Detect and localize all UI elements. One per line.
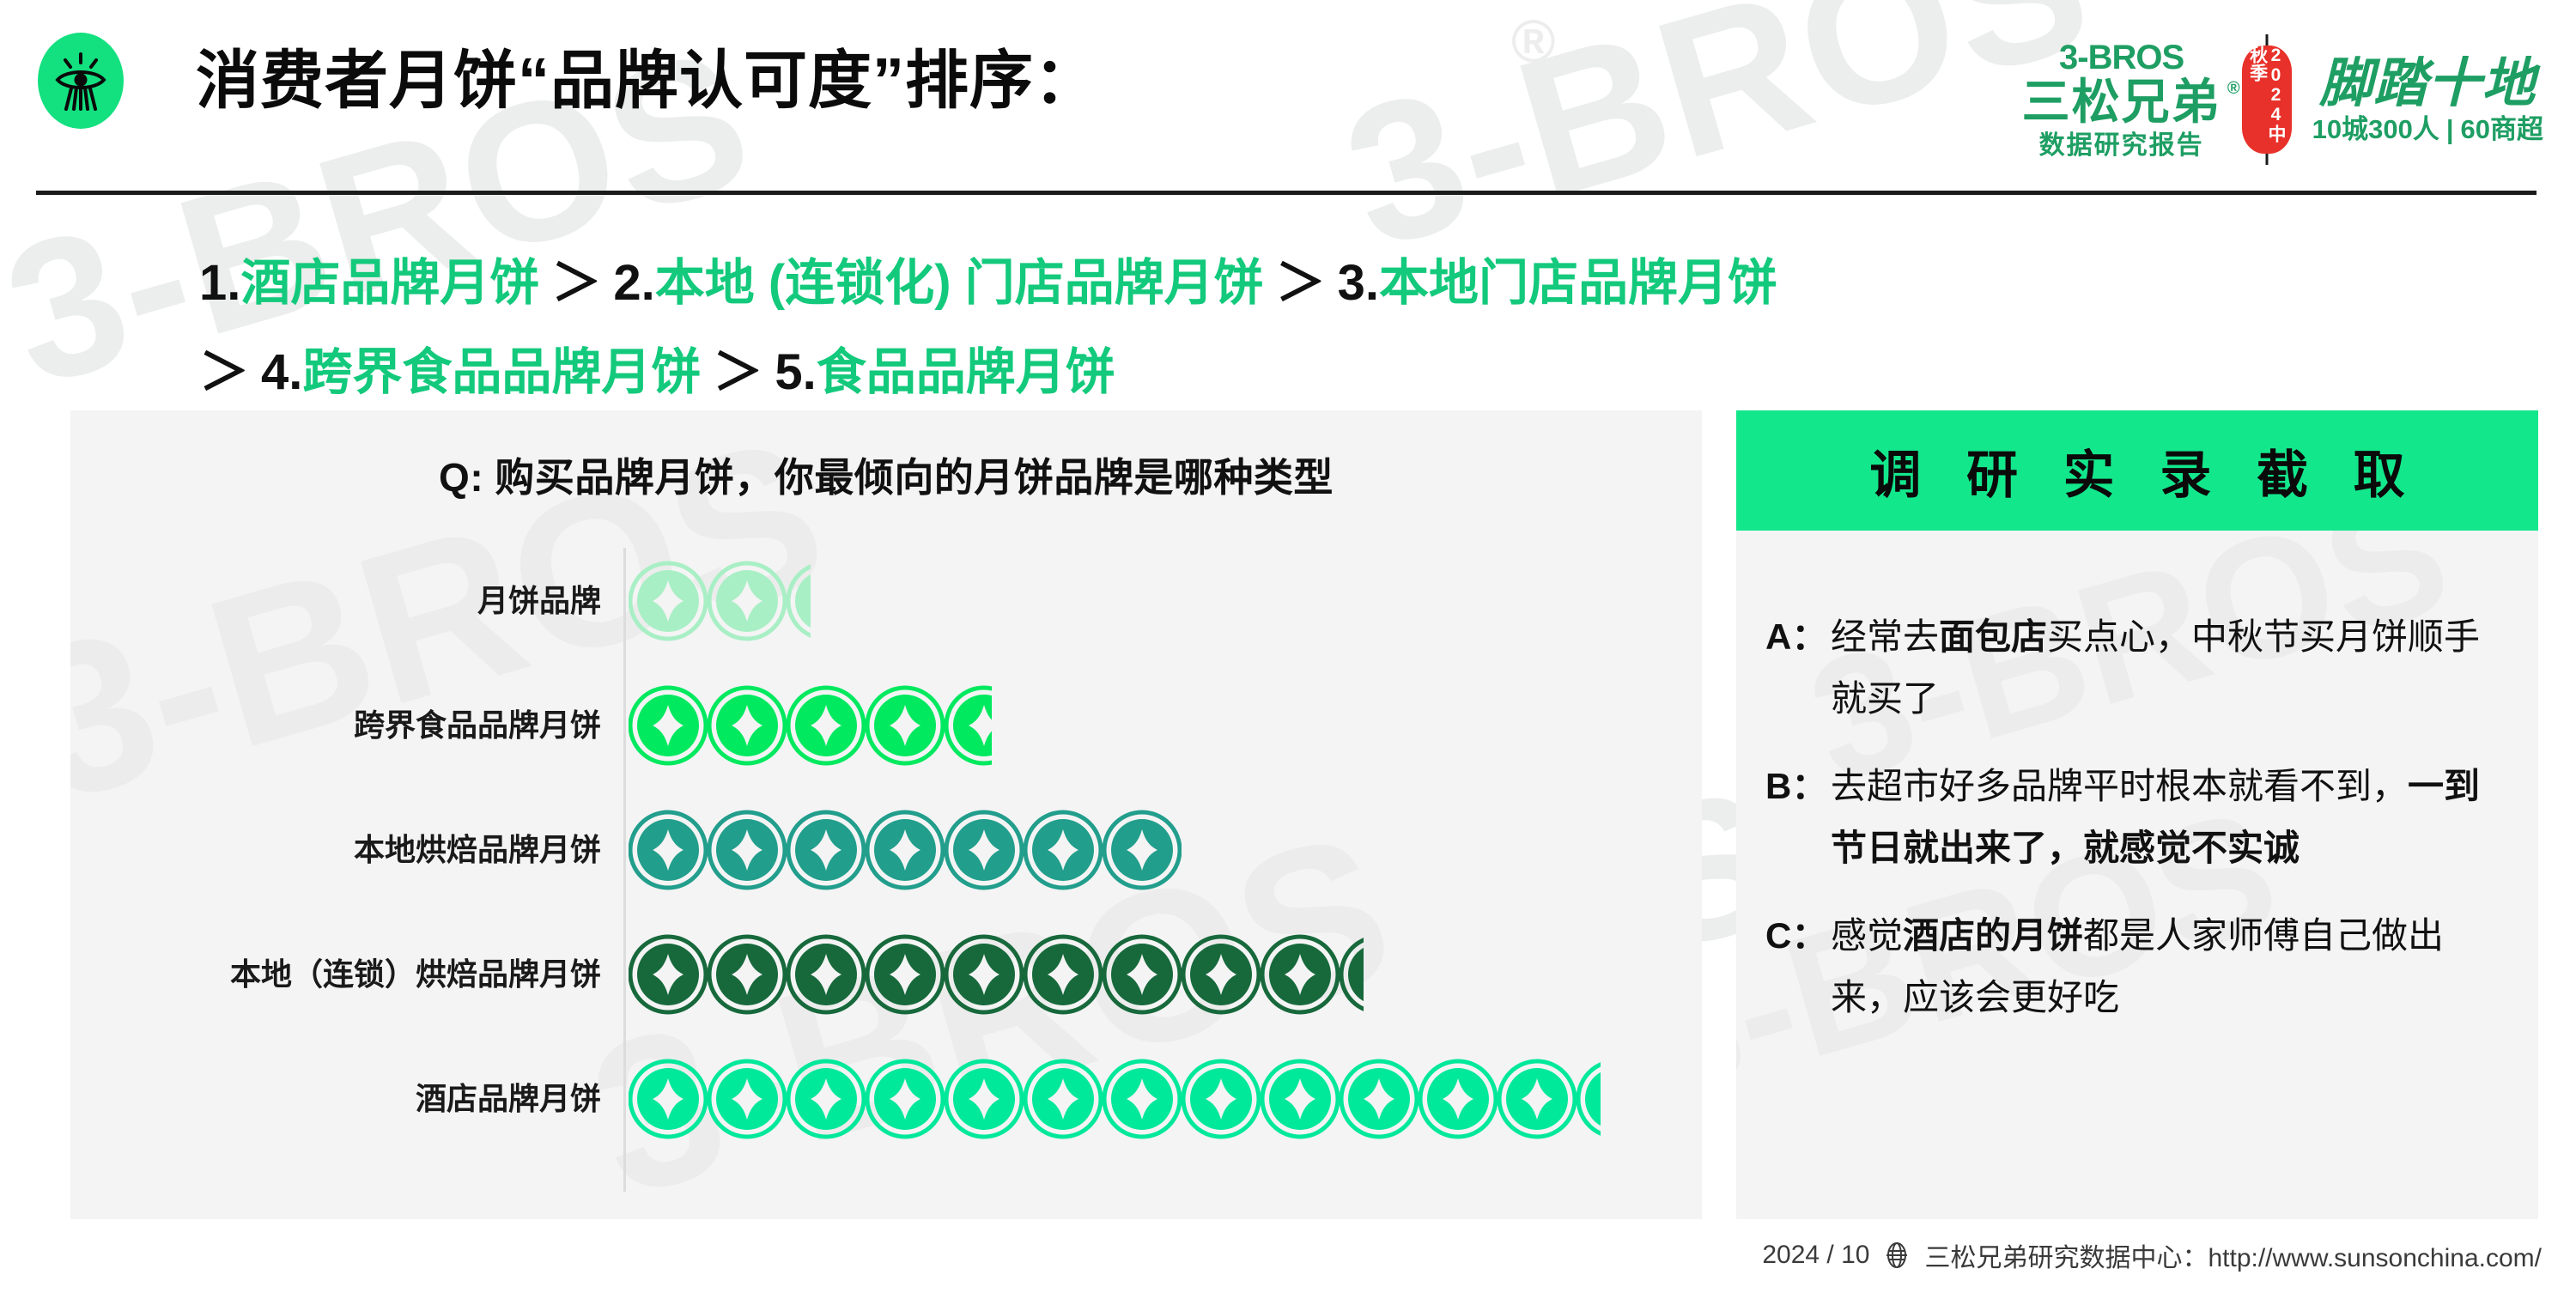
slide-page: 3-BROS 3-BROS 3-BROS ® ® 消费者月饼“品牌认可度”排序： bbox=[0, 0, 2576, 1293]
footer-date: 2024 / 10 bbox=[1762, 1241, 1869, 1270]
chart-row-label: 跨界食品品牌月饼 bbox=[70, 665, 601, 786]
rank-separator: ＞ bbox=[199, 344, 261, 400]
chart-panel: 3-BROS 3-BROS Q: 购买品牌月饼，你最倾向的月饼品牌是哪种类型 月… bbox=[70, 410, 1702, 1219]
pictogram-unit-icon bbox=[1024, 1039, 1103, 1159]
chart-row-bar bbox=[629, 665, 992, 786]
pictogram-unit-icon bbox=[866, 665, 945, 786]
pictogram-unit-icon bbox=[866, 1039, 945, 1159]
quote-text: 经常去面包店买点心，中秋节买月饼顺手就买了 bbox=[1831, 606, 2509, 730]
quote-fragment: 经常去 bbox=[1831, 616, 1939, 657]
quote-list: A：经常去面包店买点心，中秋节买月饼顺手就买了B：去超市好多品牌平时根本就看不到… bbox=[1736, 606, 2538, 1054]
rank-label: 酒店品牌月饼 bbox=[240, 255, 539, 311]
pictogram-unit-icon bbox=[787, 1039, 866, 1159]
pictogram-unit-icon bbox=[787, 914, 866, 1035]
pictogram-unit-icon bbox=[1024, 790, 1103, 910]
brand-lockup: 3-BROS 三松兄弟® 数据研究报告 2024中秋季 脚踏十地 10城300人… bbox=[2022, 22, 2543, 177]
pictogram-unit-icon bbox=[1103, 790, 1182, 910]
pictogram-unit-icon bbox=[945, 665, 992, 786]
pictogram-unit-icon bbox=[708, 1039, 787, 1159]
rank-label: 本地门店品牌月饼 bbox=[1379, 255, 1777, 311]
ranking-line: ＞4.跨界食品品牌月饼＞5.食品品牌月饼 bbox=[199, 328, 2449, 417]
quote-emphasis: 面包店 bbox=[1939, 616, 2047, 657]
rank-separator: ＞ bbox=[1264, 255, 1338, 311]
survey-excerpt-panel: 3-BROS 3-BROS 调 研 实 录 截 取 A：经常去面包店买点心，中秋… bbox=[1736, 410, 2538, 1219]
pictogram-unit-icon bbox=[1498, 1039, 1577, 1159]
chart-row-bar bbox=[629, 541, 811, 661]
brand-sunson: 3-BROS 三松兄弟® 数据研究报告 bbox=[2022, 40, 2221, 159]
pictogram-unit-icon bbox=[629, 1039, 708, 1159]
pictogram-unit-icon bbox=[945, 1039, 1024, 1159]
pictogram-unit-icon bbox=[787, 541, 811, 661]
quote-key: A： bbox=[1765, 606, 1831, 730]
rank-number: 2. bbox=[613, 255, 654, 311]
rank-label: 本地 (连锁化) 门店品牌月饼 bbox=[655, 255, 1264, 311]
pictogram-unit-icon bbox=[945, 914, 1024, 1035]
rank-number: 5. bbox=[775, 344, 816, 400]
chart-row-label: 本地（连锁）烘焙品牌月饼 bbox=[70, 914, 601, 1035]
pictogram-unit-icon bbox=[945, 790, 1024, 910]
lantern-icon: 2024中秋季 bbox=[2240, 34, 2293, 165]
slogan-stores-label: 60商超 bbox=[2461, 114, 2543, 144]
chart-row-bar bbox=[629, 1039, 1601, 1159]
ranking-list: 1.酒店品牌月饼＞2.本地 (连锁化) 门店品牌月饼＞3.本地门店品牌月饼 ＞4… bbox=[199, 239, 2449, 417]
survey-excerpt-header: 调 研 实 录 截 取 bbox=[1736, 410, 2538, 531]
pictogram-unit-icon bbox=[1261, 1039, 1340, 1159]
pictogram-unit-icon bbox=[1340, 914, 1364, 1035]
chart-row-label: 月饼品牌 bbox=[70, 541, 601, 661]
campaign-slogan: 脚踏十地 10城300人|60商超 bbox=[2312, 58, 2543, 143]
pictogram-unit-icon bbox=[629, 541, 708, 661]
chart-row: 本地烘焙品牌月饼 bbox=[70, 790, 1702, 910]
brand-subtitle: 数据研究报告 bbox=[2022, 133, 2221, 159]
pictogram-unit-icon bbox=[866, 914, 945, 1035]
pictogram-chart: 月饼品牌跨界食品品牌月饼本地烘焙品牌月饼本地（连锁）烘焙品牌月饼酒店品牌月饼 bbox=[70, 541, 1702, 1219]
chart-question-title: Q: 购买品牌月饼，你最倾向的月饼品牌是哪种类型 bbox=[70, 446, 1702, 503]
ranking-line: 1.酒店品牌月饼＞2.本地 (连锁化) 门店品牌月饼＞3.本地门店品牌月饼 bbox=[199, 239, 2449, 328]
pictogram-unit-icon bbox=[1103, 914, 1182, 1035]
rank-number: 4. bbox=[261, 344, 302, 400]
pictogram-unit-icon bbox=[629, 790, 708, 910]
pictogram-unit-icon bbox=[1261, 914, 1340, 1035]
rank-separator: ＞ bbox=[539, 255, 613, 311]
rank-label: 食品品牌月饼 bbox=[817, 344, 1115, 400]
quote-text: 去超市好多品牌平时根本就看不到，一到节日就出来了，就感觉不实诚 bbox=[1831, 756, 2509, 879]
globe-icon bbox=[1883, 1241, 1911, 1269]
header-divider bbox=[36, 191, 2537, 195]
pictogram-unit-icon bbox=[1577, 1039, 1601, 1159]
eye-icon bbox=[38, 33, 124, 129]
rank-number: 1. bbox=[199, 255, 240, 311]
rank-number: 3. bbox=[1338, 255, 1379, 311]
pictogram-unit-icon bbox=[1024, 914, 1103, 1035]
brand-cn-label: 三松兄弟® bbox=[2022, 78, 2221, 126]
chart-row: 跨界食品品牌月饼 bbox=[70, 665, 1702, 786]
pictogram-unit-icon bbox=[1182, 1039, 1261, 1159]
page-header: 消费者月饼“品牌认可度”排序： 3-BROS 三松兄弟® 数据研究报告 2024… bbox=[0, 0, 2576, 199]
page-footer: 2024 / 10 三松兄弟研究数据中心：http://www.sunsonch… bbox=[1762, 1236, 2542, 1274]
slogan-stats: 10城300人|60商超 bbox=[2312, 116, 2543, 143]
brand-en-label: 3-BROS bbox=[2022, 40, 2221, 75]
quote-key: C： bbox=[1765, 905, 1831, 1029]
quote-fragment: 去超市好多品牌平时根本就看不到， bbox=[1831, 766, 2408, 806]
slogan-separator: | bbox=[2439, 114, 2461, 144]
footer-source: 三松兄弟研究数据中心：http://www.sunsonchina.com/ bbox=[1924, 1236, 2542, 1274]
chart-row: 酒店品牌月饼 bbox=[70, 1039, 1702, 1159]
lantern-label: 2024中秋季 bbox=[2248, 46, 2285, 154]
pictogram-unit-icon bbox=[708, 914, 787, 1035]
pictogram-unit-icon bbox=[1182, 914, 1261, 1035]
quote-item: C：感觉酒店的月饼都是人家师傅自己做出来，应该会更好吃 bbox=[1765, 905, 2509, 1029]
quote-emphasis: 酒店的月饼 bbox=[1903, 915, 2083, 956]
chart-row-bar bbox=[629, 914, 1364, 1035]
slogan-main-label: 脚踏十地 bbox=[2312, 58, 2543, 111]
page-title: 消费者月饼“品牌认可度”排序： bbox=[196, 34, 1098, 127]
quote-fragment: 感觉 bbox=[1831, 915, 1903, 956]
chart-row-label: 酒店品牌月饼 bbox=[70, 1039, 601, 1159]
pictogram-unit-icon bbox=[1419, 1039, 1498, 1159]
rank-label: 跨界食品品牌月饼 bbox=[302, 344, 701, 400]
quote-item: B：去超市好多品牌平时根本就看不到，一到节日就出来了，就感觉不实诚 bbox=[1765, 756, 2509, 879]
pictogram-unit-icon bbox=[708, 790, 787, 910]
survey-excerpt-heading: 调 研 实 录 截 取 bbox=[1854, 434, 2420, 508]
pictogram-unit-icon bbox=[1103, 1039, 1182, 1159]
pictogram-unit-icon bbox=[708, 541, 787, 661]
pictogram-unit-icon bbox=[629, 665, 708, 786]
pictogram-unit-icon bbox=[1340, 1039, 1419, 1159]
brand-cn-text: 三松兄弟 bbox=[2022, 75, 2221, 129]
quote-key: B： bbox=[1765, 756, 1831, 879]
chart-row: 月饼品牌 bbox=[70, 541, 1702, 661]
pictogram-unit-icon bbox=[787, 665, 866, 786]
chart-row-label: 本地烘焙品牌月饼 bbox=[70, 790, 601, 910]
pictogram-unit-icon bbox=[629, 914, 708, 1035]
chart-row: 本地（连锁）烘焙品牌月饼 bbox=[70, 914, 1702, 1035]
pictogram-unit-icon bbox=[866, 790, 945, 910]
pictogram-unit-icon bbox=[708, 665, 787, 786]
rank-separator: ＞ bbox=[701, 344, 775, 400]
pictogram-unit-icon bbox=[787, 790, 866, 910]
chart-row-bar bbox=[629, 790, 1182, 910]
quote-item: A：经常去面包店买点心，中秋节买月饼顺手就买了 bbox=[1765, 606, 2509, 730]
quote-text: 感觉酒店的月饼都是人家师傅自己做出来，应该会更好吃 bbox=[1831, 905, 2509, 1029]
slogan-cities-label: 10城300人 bbox=[2312, 114, 2439, 144]
